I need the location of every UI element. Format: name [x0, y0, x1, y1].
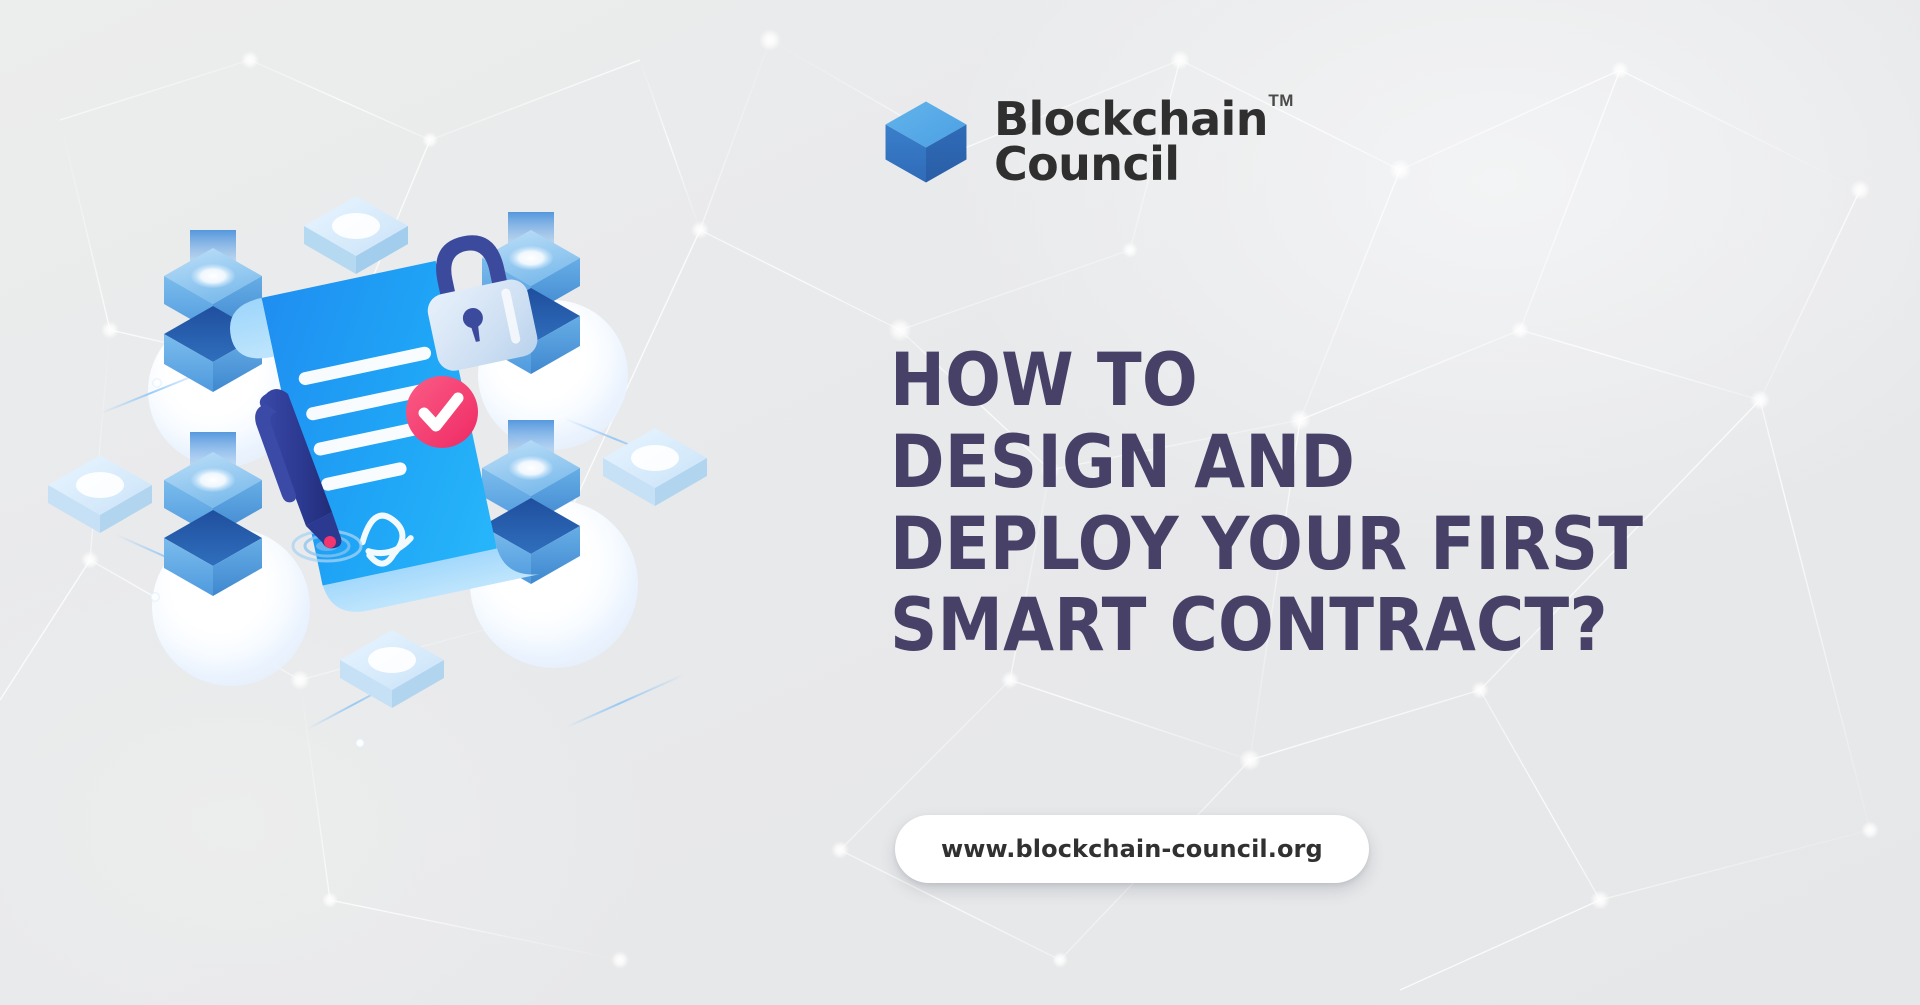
brand-logo-text: Blockchain Council TM: [994, 97, 1268, 187]
blockchain-cube-logo-icon: [880, 96, 972, 188]
brand-logo[interactable]: Blockchain Council TM: [880, 96, 1268, 188]
website-url-pill[interactable]: www.blockchain-council.org: [895, 815, 1369, 883]
headline-line-4: SMART CONTRACT?: [890, 585, 1880, 667]
verified-check-badge: [406, 376, 478, 448]
hero-illustration: [0, 0, 820, 1005]
brand-name-line2: Council: [994, 142, 1268, 187]
isometric-plate: [340, 630, 444, 708]
headline-line-1: HOW TO: [890, 340, 1880, 422]
isometric-plate: [48, 455, 152, 533]
isometric-plate: [304, 196, 408, 274]
isometric-plate: [603, 428, 707, 506]
blockchain-cube-stack: [164, 432, 262, 596]
brand-name-line1: Blockchain: [994, 97, 1268, 142]
page-title: HOW TO DESIGN AND DEPLOY YOUR FIRST SMAR…: [890, 340, 1880, 667]
banner-root: Blockchain Council TM HOW TO DESIGN AND …: [0, 0, 1920, 1005]
headline-line-3: DEPLOY YOUR FIRST: [890, 504, 1880, 586]
illustration-vectors: [0, 0, 820, 1005]
trademark-symbol: TM: [1268, 93, 1294, 110]
headline-line-2: DESIGN AND: [890, 422, 1880, 504]
